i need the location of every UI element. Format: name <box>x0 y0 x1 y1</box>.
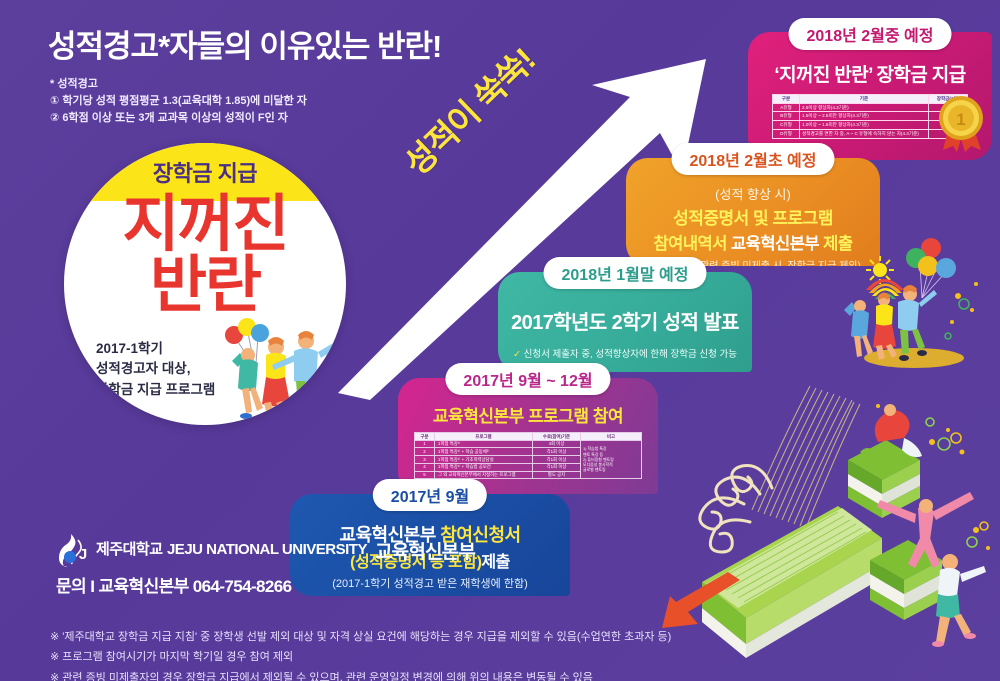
gold-medal-icon: 1 <box>935 92 987 154</box>
university-logo: J 제주대학교 JEJU NATIONAL UNIVERSITY 교육혁신본부 <box>58 533 475 567</box>
program-table-header-row: 구분 프로그램 수료(참여)기준 비고 <box>415 433 642 441</box>
step2-heading: 교육혁신본부 프로그램 참여 <box>398 402 658 427</box>
program-no: 1 <box>415 440 435 448</box>
step3-line2: 신청서 제출자 중, 성적향상자에 한해 장학금 신청 가능 <box>524 349 737 360</box>
step2-date-chip: 2017년 9월 ~ 12월 <box>445 363 610 395</box>
step5-heading: ‘지꺼진 반란’ 장학금 지급 <box>748 60 992 87</box>
program-no: 4 <box>415 463 435 471</box>
step3-date-chip: 2018년 1월말 예정 <box>544 257 707 289</box>
scholarship-th-criteria: 기준 <box>800 95 929 104</box>
circle-title: 지꺼진 반란 <box>64 195 346 317</box>
step3-line1: 2017학년도 2학기 성적 발표 <box>498 306 752 335</box>
scholarship-type: A유형 <box>773 103 800 112</box>
jeju-flame-logo-icon: J <box>58 533 88 567</box>
step4-date-chip: 2018년 2월초 예정 <box>672 143 835 175</box>
scholarship-th-type: 구분 <box>773 95 800 104</box>
step4-line3-a: 참여내역서 <box>653 235 730 253</box>
program-no: 5 <box>415 471 435 479</box>
circle-title-line1: 지꺼진 <box>64 195 346 256</box>
footnote-2: ※ 프로그램 참여시기가 마지막 학기일 경우 참여 제외 <box>50 647 671 667</box>
celebration-illustration <box>836 218 996 378</box>
circle-subtitle: 2017-1학기 성적경고자 대상, 장학금 지급 프로그램 <box>96 339 311 400</box>
books-illustration <box>632 382 1000 678</box>
medal-number: 1 <box>956 110 965 129</box>
scholarship-criteria: 1.0이상 ~ 1.5미만 향상자(4.3기준) <box>800 121 929 130</box>
step5-date-chip: 2018년 2월중 예정 <box>789 18 952 50</box>
footnotes: ※ '제주대학교 장학금 지급 지침' 중 장학생 선발 제외 대상 및 자격 … <box>50 627 671 681</box>
step4-line3-b: 교육혁신본부 <box>731 235 819 253</box>
step2-body: 교육혁신본부 프로그램 참여 구분 프로그램 수료(참여)기준 비고 1 1학점… <box>398 378 658 494</box>
step-card-scholarship-payout[interactable]: 2018년 2월중 예정 ‘지꺼진 반란’ 장학금 지급 구분 기준 장학금(1… <box>748 32 992 160</box>
svg-text:J: J <box>79 546 87 563</box>
scholarship-criteria: 2.5이상 향상자(4.3기준) <box>800 103 929 112</box>
step-card-program-participation[interactable]: 2017년 9월 ~ 12월 교육혁신본부 프로그램 참여 구분 프로그램 수료… <box>398 378 658 494</box>
program-no: 2 <box>415 448 435 456</box>
logo-department: 교육혁신본부 <box>375 537 475 564</box>
logo-university-text: 제주대학교 JEJU NATIONAL UNIVERSITY <box>96 541 367 559</box>
program-badge-circle: 장학금 지급 지꺼진 반란 <box>64 143 346 425</box>
table-row: 1 1학점 특강¹⁾ 4회 이상 1) 학습법 특강 멘토 특강 등 2) 튜터… <box>415 440 642 448</box>
step-card-grade-announcement[interactable]: 2018년 1월말 예정 2017학년도 2학기 성적 발표 ✓ 신청서 제출자… <box>498 272 752 372</box>
program-name: 1학점 특강¹⁾ + 기초학력상담실 <box>435 456 533 464</box>
scholarship-type: C유형 <box>773 121 800 130</box>
footnote-1: ※ '제주대학교 장학금 지급 지침' 중 장학생 선발 제외 대상 및 자격 … <box>50 627 671 647</box>
scholarship-criteria: 성적경고를 면한 자 중, A ~ C 유형에 속하지 않는 자(4.3기준) <box>800 129 929 138</box>
logo-university-en: JEJU NATIONAL UNIVERSITY <box>167 541 367 558</box>
program-name: 1학점 특강¹⁾ + 학습 공동체²⁾ <box>435 448 533 456</box>
program-name: 1학점 특강¹⁾ <box>435 440 533 448</box>
program-name: 그 외 교육혁신본부에서 지정하는 프로그램 <box>435 471 533 479</box>
program-standard: 각1회 이상 <box>533 448 581 456</box>
program-standard: 별도 공지 <box>533 471 581 479</box>
logo-university-kr: 제주대학교 <box>96 541 163 558</box>
circle-sub-line3: 장학금 지급 프로그램 <box>96 380 311 400</box>
program-standard: 각1회 이상 <box>533 463 581 471</box>
footnote-3: ※ 관련 증빙 미제출자의 경우 장학금 지급에서 제외될 수 있으며, 관련 … <box>50 668 671 681</box>
program-standard: 4회 이상 <box>533 440 581 448</box>
step4-line1: (성적 향상 시) <box>626 184 880 203</box>
circle-band-label: 장학금 지급 <box>153 156 257 188</box>
step3-line2-wrap: ✓ 신청서 제출자 중, 성적향상자에 한해 장학금 신청 가능 <box>498 346 752 360</box>
step1-line3: (2017-1학기 성적경고 받은 재학생에 한함) <box>290 575 570 591</box>
program-th-standard: 수료(참여)기준 <box>533 433 581 441</box>
program-note-5: 글로벌 멘토링 <box>583 467 639 472</box>
step1-line2-b: 제출 <box>481 554 509 571</box>
contact-info: 문의 I 교육혁신본부 064-754-8266 <box>56 572 291 597</box>
circle-sub-line1: 2017-1학기 <box>96 339 311 359</box>
step1-date-chip: 2017년 9월 <box>373 479 487 511</box>
scholarship-criteria: 1.5이상 ~ 2.5미만 향상자(4.3기준) <box>800 112 929 121</box>
check-icon: ✓ <box>513 349 521 360</box>
program-standard: 각1회 이상 <box>533 456 581 464</box>
program-no: 3 <box>415 456 435 464</box>
program-name: 1학점 특강¹⁾ + 학습법 공모전 <box>435 463 533 471</box>
circle-sub-line2: 성적경고자 대상, <box>96 359 311 379</box>
scholarship-type: D유형 <box>773 129 800 138</box>
program-th-no: 구분 <box>415 433 435 441</box>
program-th-program: 프로그램 <box>435 433 533 441</box>
poster-canvas: 성적경고*자들의 이유있는 반란! * 성적경고 ① 학기당 성적 평점평균 1… <box>0 0 1000 681</box>
program-table: 구분 프로그램 수료(참여)기준 비고 1 1학점 특강¹⁾ 4회 이상 1) … <box>414 432 642 479</box>
scholarship-type: B유형 <box>773 112 800 121</box>
